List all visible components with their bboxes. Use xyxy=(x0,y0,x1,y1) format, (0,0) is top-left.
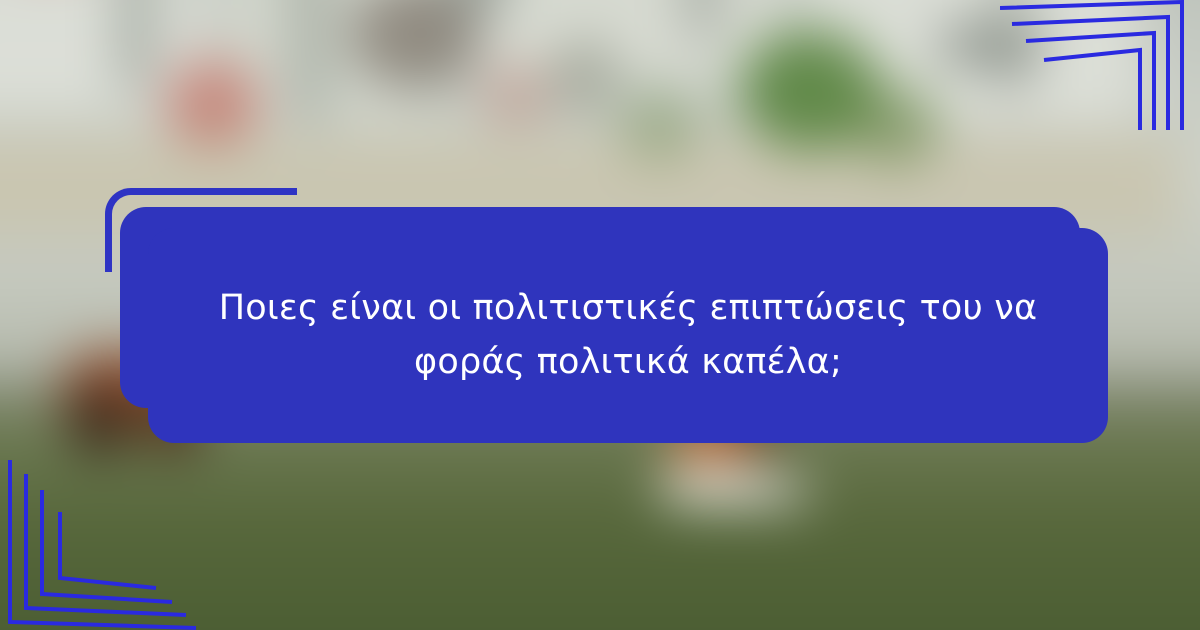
background-post-1 xyxy=(120,0,154,90)
share-card-canvas: Ποιες είναι οι πολιτιστικές επιπτώσεις τ… xyxy=(0,0,1200,630)
background-dark-shape-2 xyxy=(550,40,620,110)
background-red-accent-3 xyxy=(480,65,550,125)
background-foliage-3 xyxy=(620,90,700,160)
question-text: Ποιες είναι οι πολιτιστικές επιπτώσεις τ… xyxy=(166,282,1090,388)
background-post-2 xyxy=(290,0,330,120)
background-red-accent-2 xyxy=(165,60,260,145)
background-person-left-leg-1 xyxy=(70,385,130,455)
background-sign xyxy=(940,25,1040,65)
background-foliage-2 xyxy=(850,85,940,165)
question-card: Ποιες είναι οι πολιτιστικές επιπτώσεις τ… xyxy=(148,228,1108,443)
background-post-4 xyxy=(690,0,716,40)
background-person-right-shoe-2 xyxy=(720,475,810,507)
